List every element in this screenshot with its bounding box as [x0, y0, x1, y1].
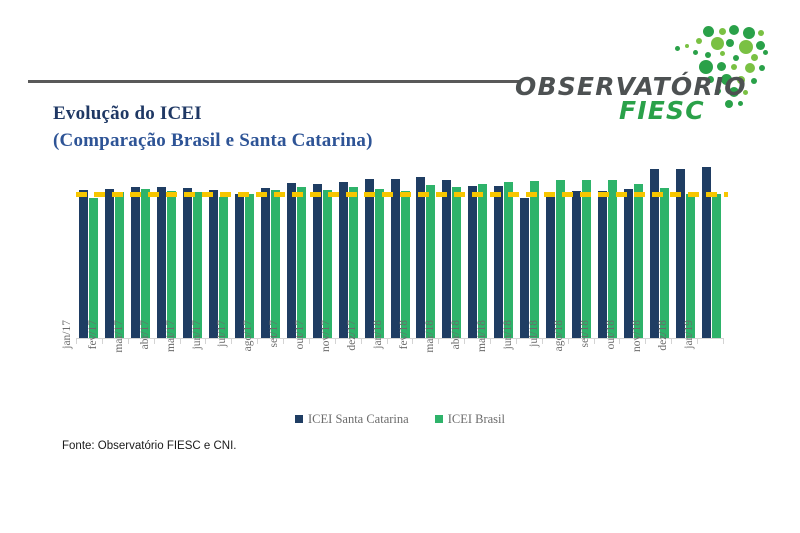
logo-dot [693, 50, 698, 55]
legend-label-santa-catarina: ICEI Santa Catarina [308, 412, 409, 427]
x-axis-label-text: mar/17 [113, 320, 125, 376]
chart-legend: ICEI Santa Catarina ICEI Brasil [62, 410, 738, 428]
logo-dot [719, 28, 726, 35]
bar-santa-catarina [183, 188, 192, 338]
x-axis-label-text: ago/18 [553, 320, 565, 376]
logo-dot [725, 100, 733, 108]
icei-bar-chart: jan/17fev/17mar/17abr/17mai/17jun/17jul/… [62, 160, 738, 435]
logo-dot [720, 51, 725, 56]
x-axis-label-text: abr/17 [139, 320, 151, 376]
x-axis-label-text: fev/18 [398, 320, 410, 376]
bar-brasil [297, 187, 306, 338]
bar-group [569, 160, 595, 338]
bar-group [620, 160, 646, 338]
bar-group [672, 160, 698, 338]
bar-group [283, 160, 309, 338]
legend-swatch-brasil [435, 415, 443, 423]
bar-group [102, 160, 128, 338]
chart-plot-area [76, 160, 724, 338]
x-axis-label-text: out/18 [605, 320, 617, 376]
logo-dot [759, 65, 765, 71]
bar-group [465, 160, 491, 338]
bar-santa-catarina [209, 190, 218, 338]
bar-brasil [271, 190, 280, 338]
x-axis-label-text: jul/17 [216, 320, 228, 376]
bar-santa-catarina [391, 179, 400, 338]
bar-group [232, 160, 258, 338]
bar-santa-catarina [131, 187, 140, 338]
legend-swatch-santa-catarina [295, 415, 303, 423]
logo-dot [739, 40, 753, 54]
bar-santa-catarina [235, 194, 244, 338]
bar-brasil [452, 187, 461, 338]
legend-item-santa-catarina: ICEI Santa Catarina [295, 412, 409, 427]
bar-santa-catarina [416, 177, 425, 338]
x-axis-label-text: dez/18 [657, 320, 669, 376]
bar-santa-catarina [468, 186, 477, 338]
bar-group [646, 160, 672, 338]
bar-brasil [323, 190, 332, 338]
bar-group [543, 160, 569, 338]
bar-brasil [634, 184, 643, 338]
bar-brasil [556, 180, 565, 338]
bar-brasil [349, 187, 358, 338]
bar-santa-catarina [624, 189, 633, 338]
x-axis-label-text: mar/18 [424, 320, 436, 376]
bar-brasil [141, 189, 150, 338]
bar-group [698, 160, 724, 338]
logo-dot [743, 27, 755, 39]
logo-dot [696, 38, 702, 44]
bar-santa-catarina [313, 184, 322, 338]
x-axis-label-text: nov/17 [320, 320, 332, 376]
bar-santa-catarina [105, 189, 114, 338]
x-axis-tick [697, 338, 724, 344]
bar-santa-catarina [520, 198, 529, 338]
x-axis-label-text: jun/17 [191, 320, 203, 376]
bar-group [76, 160, 102, 338]
x-axis-label-text: jan/19 [683, 320, 695, 376]
logo-submark: FIESC [619, 96, 705, 125]
header-divider-rule [28, 80, 520, 83]
legend-label-brasil: ICEI Brasil [448, 412, 505, 427]
bar-group [594, 160, 620, 338]
bar-brasil [115, 192, 124, 338]
logo-dot [758, 30, 764, 36]
page-title: Evolução do ICEI [53, 103, 202, 125]
bar-santa-catarina [442, 180, 451, 338]
x-axis-label-text: set/18 [579, 320, 591, 376]
bar-santa-catarina [546, 197, 555, 338]
bar-brasil [401, 191, 410, 338]
bar-brasil [504, 182, 513, 338]
bar-group [387, 160, 413, 338]
bar-brasil [219, 197, 228, 338]
bar-santa-catarina [79, 190, 88, 338]
logo-dot [705, 52, 711, 58]
logo-dot [675, 46, 680, 51]
legend-item-brasil: ICEI Brasil [435, 412, 505, 427]
x-axis-label-text: dez/17 [346, 320, 358, 376]
x-axis-label-text: set/17 [268, 320, 280, 376]
observatorio-fiesc-logo: OBSERVATÓRIO FIESC [515, 24, 777, 116]
logo-dot [751, 78, 757, 84]
page-subtitle: (Comparação Brasil e Santa Catarina) [53, 130, 373, 152]
bar-brasil [582, 180, 591, 338]
logo-dot [733, 55, 739, 61]
bar-brasil [167, 191, 176, 338]
logo-dot [726, 39, 734, 47]
logo-dot [711, 37, 724, 50]
x-axis-label-text: jul/18 [528, 320, 540, 376]
x-axis-label-text: jan/18 [372, 320, 384, 376]
bar-group [257, 160, 283, 338]
bar-group [413, 160, 439, 338]
logo-dot [729, 25, 739, 35]
bar-group [128, 160, 154, 338]
bar-brasil [608, 180, 617, 338]
reference-line-50 [76, 192, 728, 197]
bar-group [206, 160, 232, 338]
bar-santa-catarina [339, 182, 348, 338]
bar-brasil [193, 192, 202, 338]
source-note: Fonte: Observatório FIESC e CNI. [62, 440, 236, 452]
bar-brasil [375, 189, 384, 338]
bar-group [361, 160, 387, 338]
x-axis-label-text: nov/18 [631, 320, 643, 376]
bar-brasil [478, 184, 487, 338]
logo-dot [751, 54, 758, 61]
bar-brasil [660, 188, 669, 338]
x-axis-label-text: jun/18 [502, 320, 514, 376]
bar-santa-catarina [572, 191, 581, 338]
bar-group [335, 160, 361, 338]
bar-group [180, 160, 206, 338]
x-axis-label: jan/19 [698, 346, 724, 404]
bar-group [491, 160, 517, 338]
logo-dot [738, 101, 743, 106]
x-axis-label-text: jan/17 [61, 320, 73, 376]
x-axis-label-text: out/17 [294, 320, 306, 376]
x-axis-label-text: ago/17 [242, 320, 254, 376]
logo-dot [703, 26, 714, 37]
x-axis-label-text: mai/18 [476, 320, 488, 376]
bar-brasil [530, 181, 539, 338]
bar-groups [76, 160, 724, 338]
slide-canvas: OBSERVATÓRIO FIESC Evolução do ICEI (Com… [0, 0, 800, 533]
bar-brasil [426, 185, 435, 338]
bar-brasil [686, 194, 695, 338]
bar-santa-catarina [598, 191, 607, 338]
bar-santa-catarina [157, 187, 166, 338]
x-axis-label-text: fev/17 [87, 320, 99, 376]
bar-santa-catarina [365, 179, 374, 338]
bar-brasil [245, 194, 254, 338]
logo-dot [763, 50, 768, 55]
bar-brasil [712, 194, 721, 338]
bar-santa-catarina [261, 188, 270, 338]
bar-santa-catarina [494, 186, 503, 338]
logo-dot [717, 62, 726, 71]
x-axis-label-text: abr/18 [450, 320, 462, 376]
logo-dot [756, 41, 765, 50]
x-axis-labels: jan/17fev/17mar/17abr/17mai/17jun/17jul/… [76, 346, 724, 404]
bar-group [154, 160, 180, 338]
bar-group [439, 160, 465, 338]
bar-group [517, 160, 543, 338]
bar-group [309, 160, 335, 338]
bar-brasil [89, 198, 98, 338]
logo-dot [685, 44, 689, 48]
logo-dot [731, 64, 737, 70]
x-axis-label-text: mai/17 [165, 320, 177, 376]
bar-santa-catarina [287, 183, 296, 338]
